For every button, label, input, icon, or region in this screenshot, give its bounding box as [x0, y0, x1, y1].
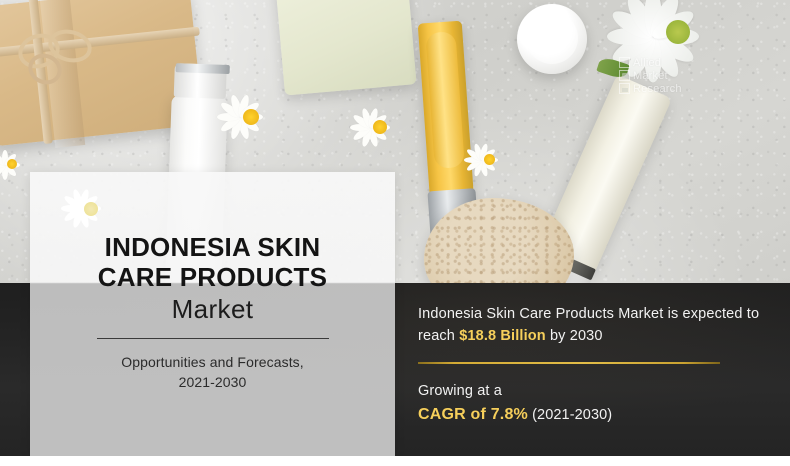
daisy-flower-4: [0, 148, 30, 182]
daisy-flower-1: [223, 90, 279, 144]
gel-window: [425, 31, 464, 169]
title-line-1: INDONESIA SKIN: [30, 232, 395, 262]
growth-label: Growing at a: [418, 381, 778, 402]
watermark-line-3: Research: [633, 83, 682, 95]
daisy-center: [243, 109, 259, 125]
bottom-margin: [0, 456, 790, 466]
daisy-center: [373, 120, 387, 134]
daisy-flower-2: [355, 103, 405, 151]
bottle-cap: [174, 63, 227, 99]
market-statement: Indonesia Skin Care Products Market is e…: [418, 303, 778, 347]
watermark-row-1: Allied: [619, 56, 705, 69]
market-report-banner: Allied Market Research INDONESIA SKIN CA…: [0, 0, 790, 466]
daisy-flower-3: [468, 140, 510, 180]
card-daisy-center: [84, 202, 98, 216]
cagr-value: CAGR of 7.8%: [418, 406, 528, 423]
green-soap-bar: [275, 0, 416, 96]
subtitle-line-1: Opportunities and Forecasts,: [30, 352, 395, 372]
subtitle: Opportunities and Forecasts, 2021-2030: [30, 352, 395, 392]
title-line-2: CARE PRODUCTS: [30, 262, 395, 292]
watermark-row-2: Market: [619, 69, 705, 82]
watermark-line-1: Allied: [633, 57, 661, 69]
logo-bar-square-icon: [619, 83, 630, 94]
cagr-line: CAGR of 7.8% (2021-2030): [418, 404, 778, 426]
logo-square-icon: [619, 57, 630, 68]
watermark-row-3: Research: [619, 82, 705, 95]
cagr-period: (2021-2030): [528, 407, 612, 423]
watermark-line-2: Market: [633, 70, 668, 82]
subtitle-line-2: 2021-2030: [30, 372, 395, 392]
card-daisy-icon: [67, 186, 115, 232]
title-divider: [97, 338, 329, 339]
title-line-3: Market: [30, 292, 395, 326]
twine-bow: [18, 28, 96, 80]
market-value-highlight: $18.8 Billion: [459, 328, 546, 344]
gold-divider: [418, 362, 720, 364]
title-card: INDONESIA SKIN CARE PRODUCTS Market Oppo…: [30, 172, 395, 456]
daisy-center: [484, 154, 495, 165]
statement-suffix: by 2030: [546, 328, 603, 344]
bottle-ring: [176, 63, 230, 74]
logo-filled-square-icon: [619, 70, 630, 81]
allied-market-research-watermark: Allied Market Research: [619, 56, 705, 100]
page-title: INDONESIA SKIN CARE PRODUCTS Market Oppo…: [30, 232, 395, 392]
highlights-panel: Indonesia Skin Care Products Market is e…: [418, 303, 778, 426]
cream-jar: [517, 4, 587, 74]
flower-center: [666, 20, 690, 44]
daisy-center: [7, 159, 17, 169]
